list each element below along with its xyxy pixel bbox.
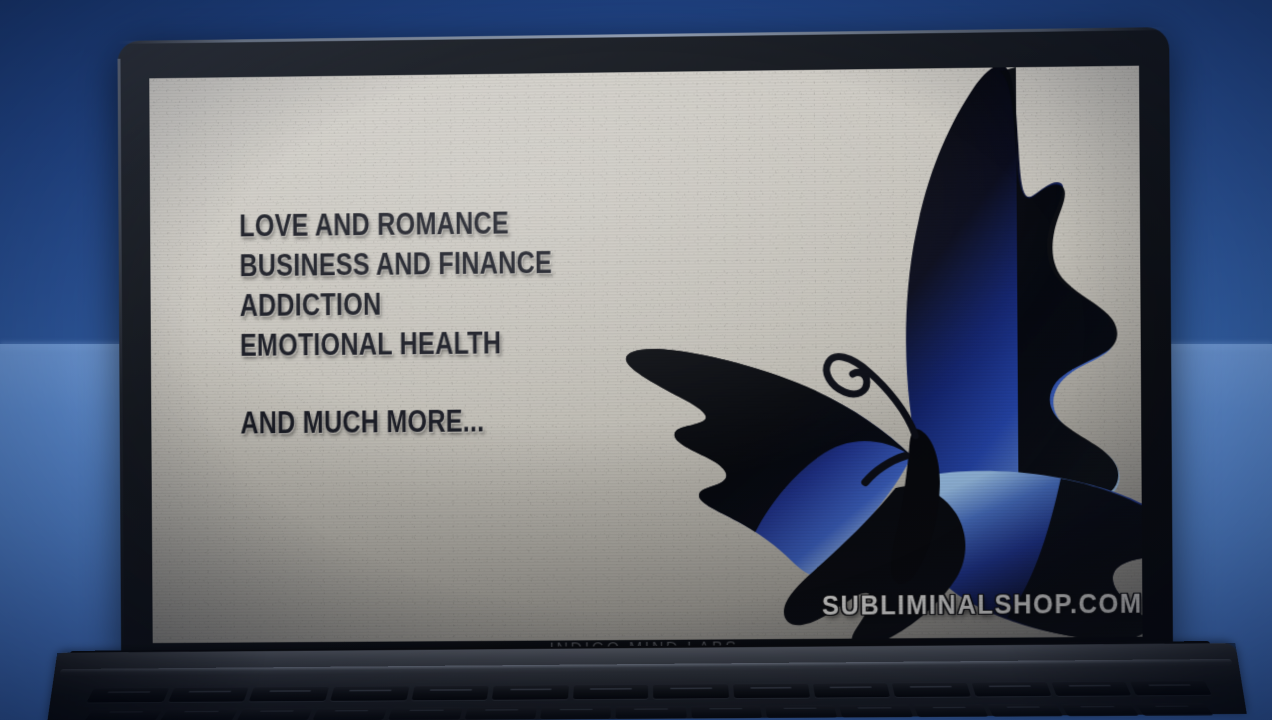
keyboard-key[interactable] [573, 684, 649, 699]
keyboard-key[interactable] [691, 705, 762, 718]
screen-scanlines [149, 66, 1142, 643]
keyboard-key[interactable] [913, 704, 988, 717]
keyboard-key[interactable] [312, 707, 387, 720]
keyboard-key[interactable] [84, 709, 164, 720]
screenshot-stage: LOVE AND ROMANCE BUSINESS AND FINANCE AD… [0, 0, 1272, 720]
laptop-screen[interactable]: LOVE AND ROMANCE BUSINESS AND FINANCE AD… [149, 66, 1142, 643]
keyboard-key[interactable] [160, 708, 238, 720]
keyboard-key[interactable] [1051, 681, 1132, 696]
laptop-lid: LOVE AND ROMANCE BUSINESS AND FINANCE AD… [117, 27, 1173, 667]
keyboard-key[interactable] [1061, 703, 1139, 716]
keyboard-key[interactable] [813, 682, 891, 697]
lid-top-edge-highlight [117, 27, 1169, 44]
keyboard-key[interactable] [987, 704, 1063, 717]
keyboard-key[interactable] [330, 686, 409, 701]
keyboard-key[interactable] [411, 685, 489, 700]
keyboard-key[interactable] [616, 706, 687, 719]
keyboard-key[interactable] [765, 705, 838, 718]
keyboard-key[interactable] [388, 707, 462, 720]
keyboard-key[interactable] [87, 687, 170, 702]
keyboard-key[interactable] [168, 687, 249, 702]
keyboard-key[interactable] [1130, 680, 1212, 695]
keyboard-key[interactable] [839, 705, 913, 718]
keyboard-key[interactable] [1135, 703, 1214, 716]
keyboard-key[interactable] [892, 682, 971, 697]
keyboard-key[interactable] [492, 685, 569, 700]
lid-left-edge-highlight [118, 59, 125, 667]
keyboard-key[interactable] [653, 683, 729, 698]
keyboard-key[interactable] [540, 706, 611, 719]
keyboard-key[interactable] [733, 683, 810, 698]
keyboard-key[interactable] [249, 686, 329, 701]
keyboard-key[interactable] [236, 708, 313, 720]
laptop: LOVE AND ROMANCE BUSINESS AND FINANCE AD… [0, 0, 1272, 720]
keyboard-key[interactable] [971, 681, 1051, 696]
keyboard-key[interactable] [464, 707, 537, 720]
